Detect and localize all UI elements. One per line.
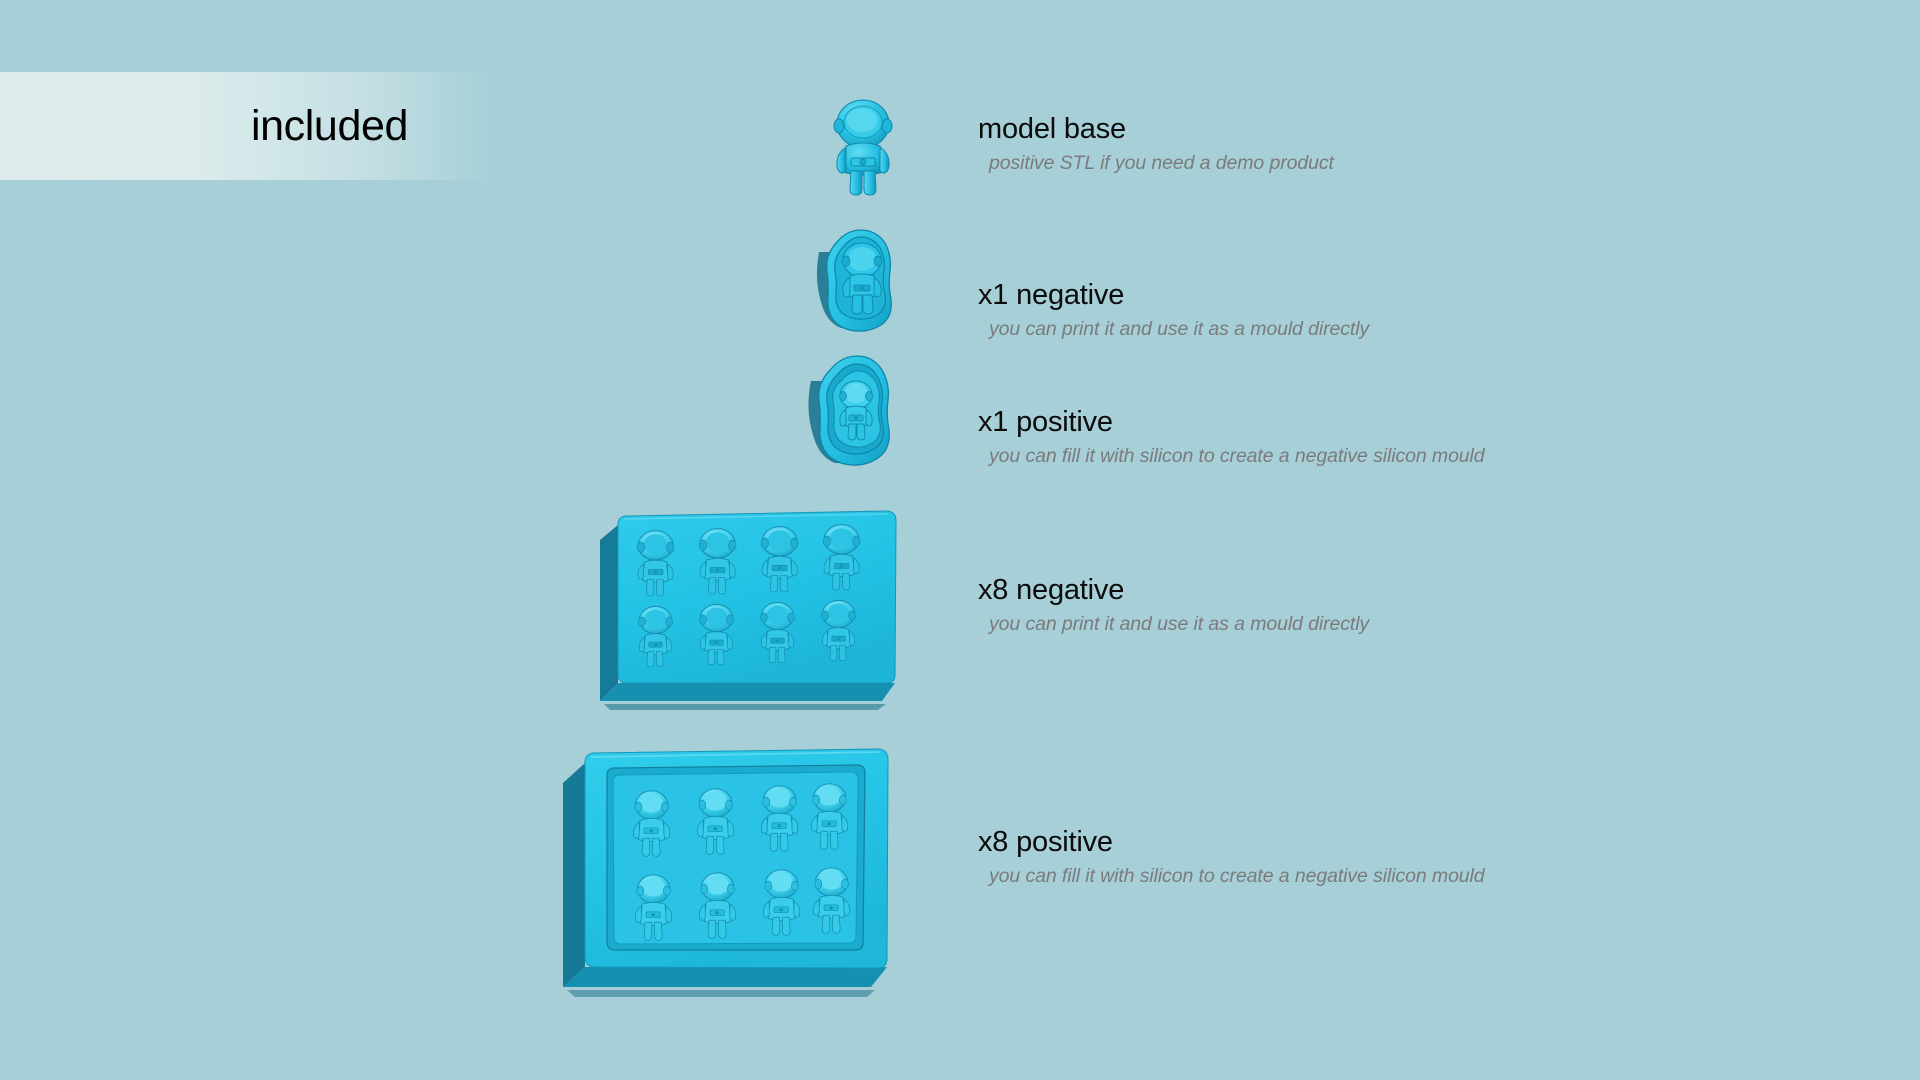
x8-negative-labels: x8 negative you can print it and use it … (978, 575, 1369, 635)
x8-negative-art (590, 505, 910, 720)
item-subtitle: you can print it and use it as a mould d… (978, 614, 1369, 634)
model-base-art (818, 98, 908, 198)
banner-title: included (251, 102, 492, 151)
x1-positive-art (795, 355, 913, 473)
single-cavity-negative-mould-icon (805, 228, 915, 338)
model-base-labels: model base positive STL if you need a de… (978, 114, 1334, 174)
included-banner: included (0, 72, 492, 180)
item-title: x8 negative (978, 575, 1369, 605)
x8-positive-labels: x8 positive you can fill it with silicon… (978, 827, 1485, 887)
item-title: model base (978, 114, 1334, 144)
x8-positive-art (555, 745, 905, 1010)
x1-positive-labels: x1 positive you can fill it with silicon… (978, 407, 1485, 467)
item-title: x8 positive (978, 827, 1485, 857)
eight-cavity-negative-tray-icon (590, 505, 910, 720)
item-subtitle: you can fill it with silicon to create a… (978, 866, 1485, 886)
item-subtitle: positive STL if you need a demo product (978, 153, 1334, 173)
astronaut-figure-icon (818, 98, 908, 198)
x1-negative-labels: x1 negative you can print it and use it … (978, 280, 1369, 340)
eight-cavity-positive-tray-icon (555, 745, 905, 1010)
item-subtitle: you can print it and use it as a mould d… (978, 319, 1369, 339)
item-subtitle: you can fill it with silicon to create a… (978, 446, 1485, 466)
x1-negative-art (805, 228, 915, 338)
item-title: x1 negative (978, 280, 1369, 310)
single-cavity-positive-mould-icon (795, 355, 913, 473)
item-title: x1 positive (978, 407, 1485, 437)
